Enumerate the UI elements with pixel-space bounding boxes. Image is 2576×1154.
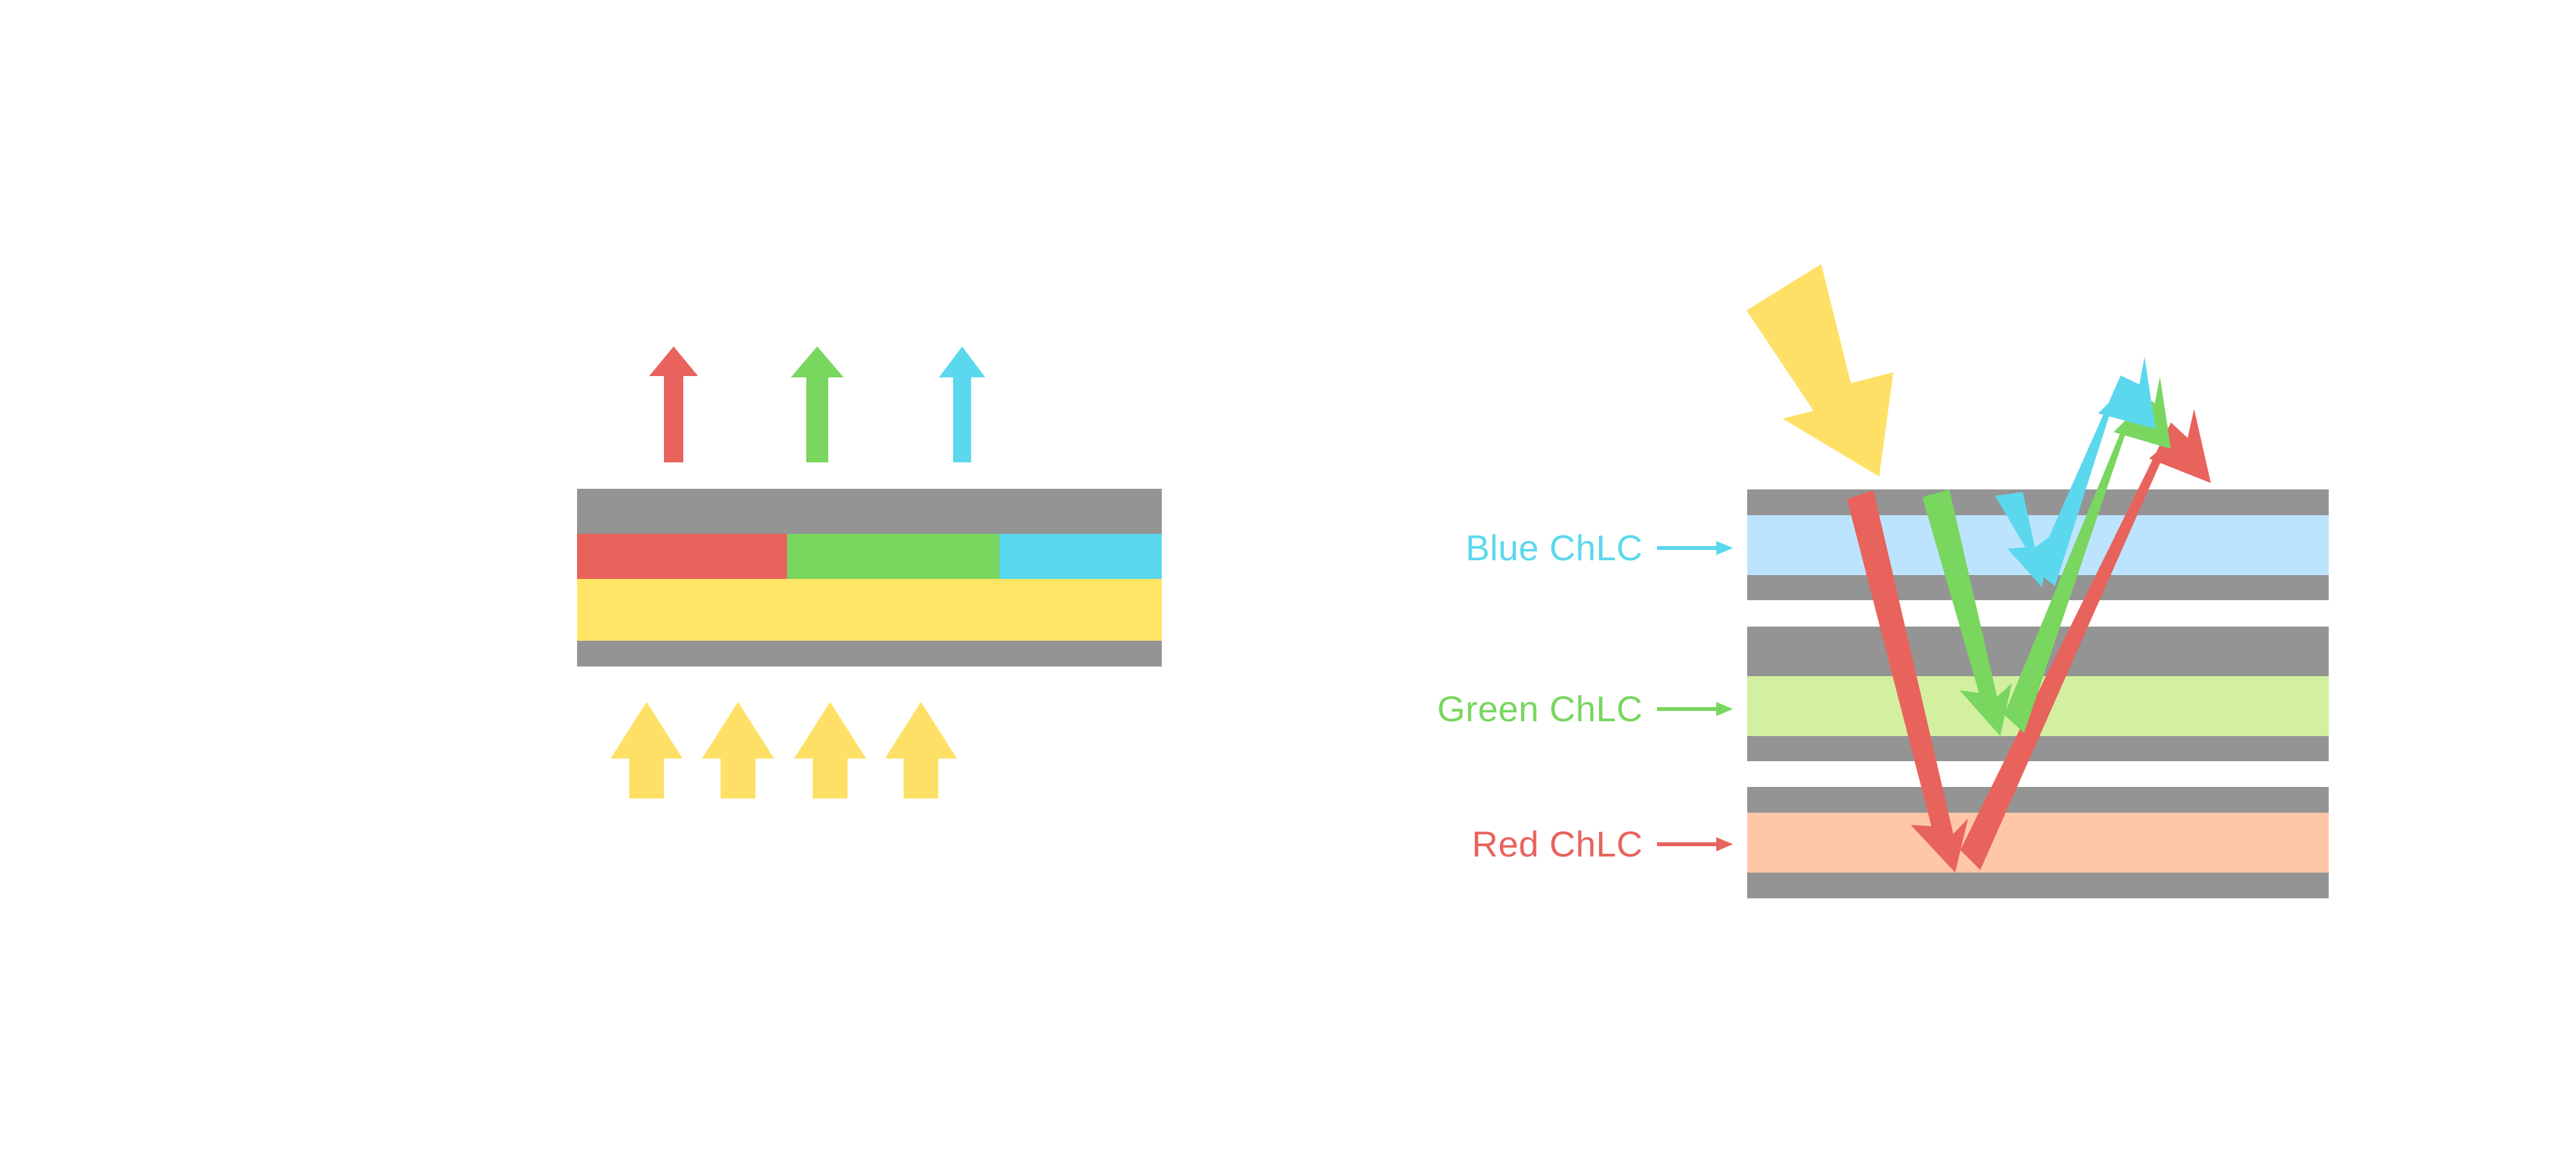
blue-light-out-arrow <box>936 346 988 466</box>
blue-chlc-pointer-icon <box>1657 538 1734 558</box>
green-chlc-pointer-icon <box>1657 699 1734 719</box>
red-cell-bottom-electrode <box>1747 873 2329 898</box>
red-chlc-label-row: Red ChLC <box>1168 823 1734 865</box>
figure-canvas: Blue ChLC Green ChLC Red ChLC <box>0 0 2576 1154</box>
backlight-arrow-1 <box>609 702 684 800</box>
green-cell-bottom-electrode <box>1747 736 2329 761</box>
blue-filter-segment <box>999 534 1162 579</box>
green-chlc-label: Green ChLC <box>1437 688 1643 730</box>
ambient-light-arrow <box>1744 264 1931 477</box>
blue-chlc-label: Blue ChLC <box>1466 527 1643 569</box>
red-cell-top-electrode <box>1747 787 2329 813</box>
gray-substrate-top <box>577 489 1162 534</box>
green-filter-segment <box>787 534 999 579</box>
blue-chlc-layer <box>1747 515 2329 575</box>
yellow-backlight-layer <box>577 579 1162 641</box>
rgb-color-filter <box>577 534 1162 579</box>
red-light-out-arrow <box>648 346 699 466</box>
green-cell-top-electrode <box>1747 627 2329 676</box>
reflective-chlc-stack-diagram: Blue ChLC Green ChLC Red ChLC <box>1747 270 2329 914</box>
green-chlc-layer <box>1747 676 2329 736</box>
transmissive-stack-diagram <box>577 335 1162 811</box>
gray-substrate-bottom <box>577 641 1162 667</box>
red-chlc-label: Red ChLC <box>1472 823 1643 865</box>
blue-cell-top-electrode <box>1747 489 2329 515</box>
backlight-arrow-4 <box>884 702 958 800</box>
green-chlc-label-row: Green ChLC <box>1168 688 1734 730</box>
left-layer-stack <box>577 489 1162 682</box>
backlight-arrow-3 <box>793 702 867 800</box>
red-chlc-layer <box>1747 813 2329 873</box>
green-light-out-arrow <box>790 346 845 466</box>
red-filter-segment <box>577 534 787 579</box>
red-chlc-pointer-icon <box>1657 835 1734 854</box>
blue-chlc-label-row: Blue ChLC <box>1168 527 1734 569</box>
blue-cell-bottom-electrode <box>1747 575 2329 600</box>
backlight-arrow-2 <box>701 702 775 800</box>
